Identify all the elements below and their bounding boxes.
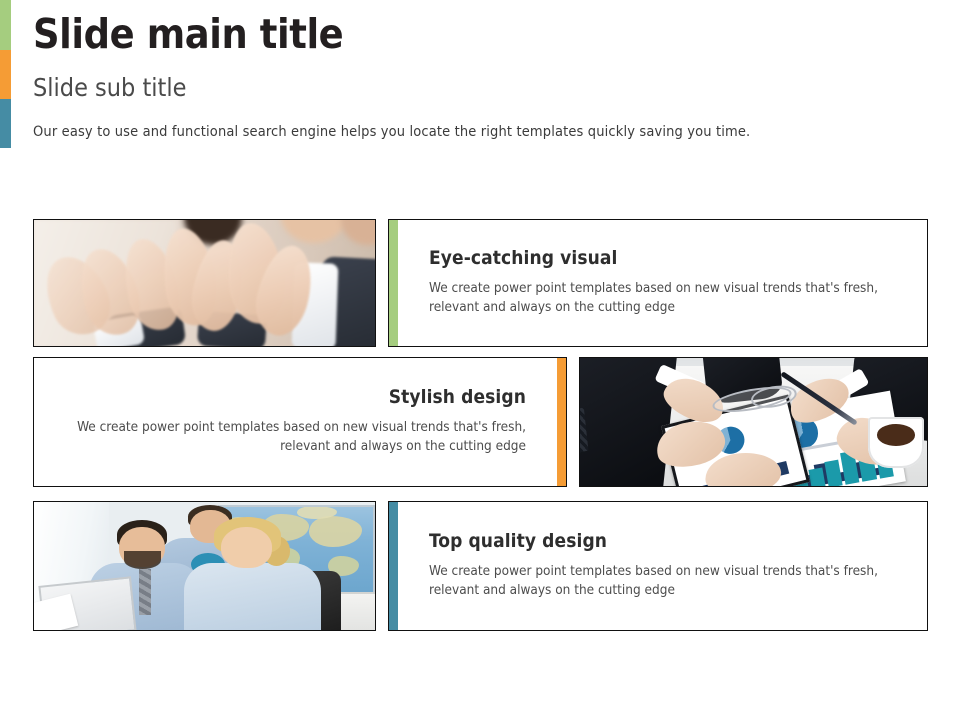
row-1-right-spacer (928, 219, 960, 347)
meeting-striped-tie (579, 408, 588, 454)
content-row-2: Stylish design We create power point tem… (0, 357, 960, 487)
office-team-photo (33, 501, 376, 631)
page-lead-text: Our easy to use and functional search en… (33, 124, 923, 141)
coffee-cup-icon (868, 417, 924, 468)
content-row-1: Eye-catching visual We create power poin… (0, 219, 960, 347)
card-3-body: We create power point templates based on… (429, 562, 899, 601)
row-2-gap (567, 357, 579, 487)
feature-card-stylish-design[interactable]: Stylish design We create power point tem… (33, 357, 567, 487)
accent-bar-green (0, 0, 11, 50)
card-2-content: Stylish design We create power point tem… (34, 387, 566, 457)
slide-header: Slide main title Slide sub title Our eas… (33, 14, 923, 141)
card-2-title: Stylish design (60, 387, 526, 408)
row-1-left-spacer (0, 219, 33, 347)
row-3-gap (376, 501, 388, 631)
row-2-left-spacer (0, 357, 33, 487)
woman-head (221, 527, 272, 568)
row-3-right-spacer (928, 501, 960, 631)
header-accent-bar-stack (0, 0, 11, 148)
meeting-photo-scene (580, 358, 927, 486)
card-2-body: We create power point templates based on… (60, 418, 526, 457)
row-1-gap (376, 219, 388, 347)
office-person-woman (198, 517, 314, 631)
card-1-title: Eye-catching visual (429, 248, 901, 269)
office-photo-scene (34, 502, 375, 630)
content-row-3: Top quality design We create power point… (0, 501, 960, 631)
feature-card-eye-catching-visual[interactable]: Eye-catching visual We create power poin… (388, 219, 928, 347)
applause-photo (33, 219, 376, 347)
row-3-left-spacer (0, 501, 33, 631)
card-3-title: Top quality design (429, 531, 901, 552)
page-title: Slide main title (33, 14, 923, 55)
card-1-body: We create power point templates based on… (429, 279, 899, 318)
row-2-right-spacer (928, 357, 960, 487)
accent-bar-teal (0, 99, 11, 148)
feature-card-top-quality-design[interactable]: Top quality design We create power point… (388, 501, 928, 631)
card-accent-orange (557, 358, 566, 486)
applause-photo-scene (34, 220, 375, 346)
slide-canvas: Slide main title Slide sub title Our eas… (0, 0, 960, 720)
page-subtitle: Slide sub title (33, 75, 923, 100)
card-1-content: Eye-catching visual We create power poin… (389, 248, 927, 318)
card-accent-teal (389, 502, 398, 630)
card-accent-green (389, 220, 398, 346)
seated-man-tie (139, 569, 151, 614)
card-3-content: Top quality design We create power point… (389, 531, 927, 601)
woman-blouse (184, 563, 321, 631)
business-meeting-charts-photo (579, 357, 928, 487)
accent-bar-orange (0, 50, 11, 99)
